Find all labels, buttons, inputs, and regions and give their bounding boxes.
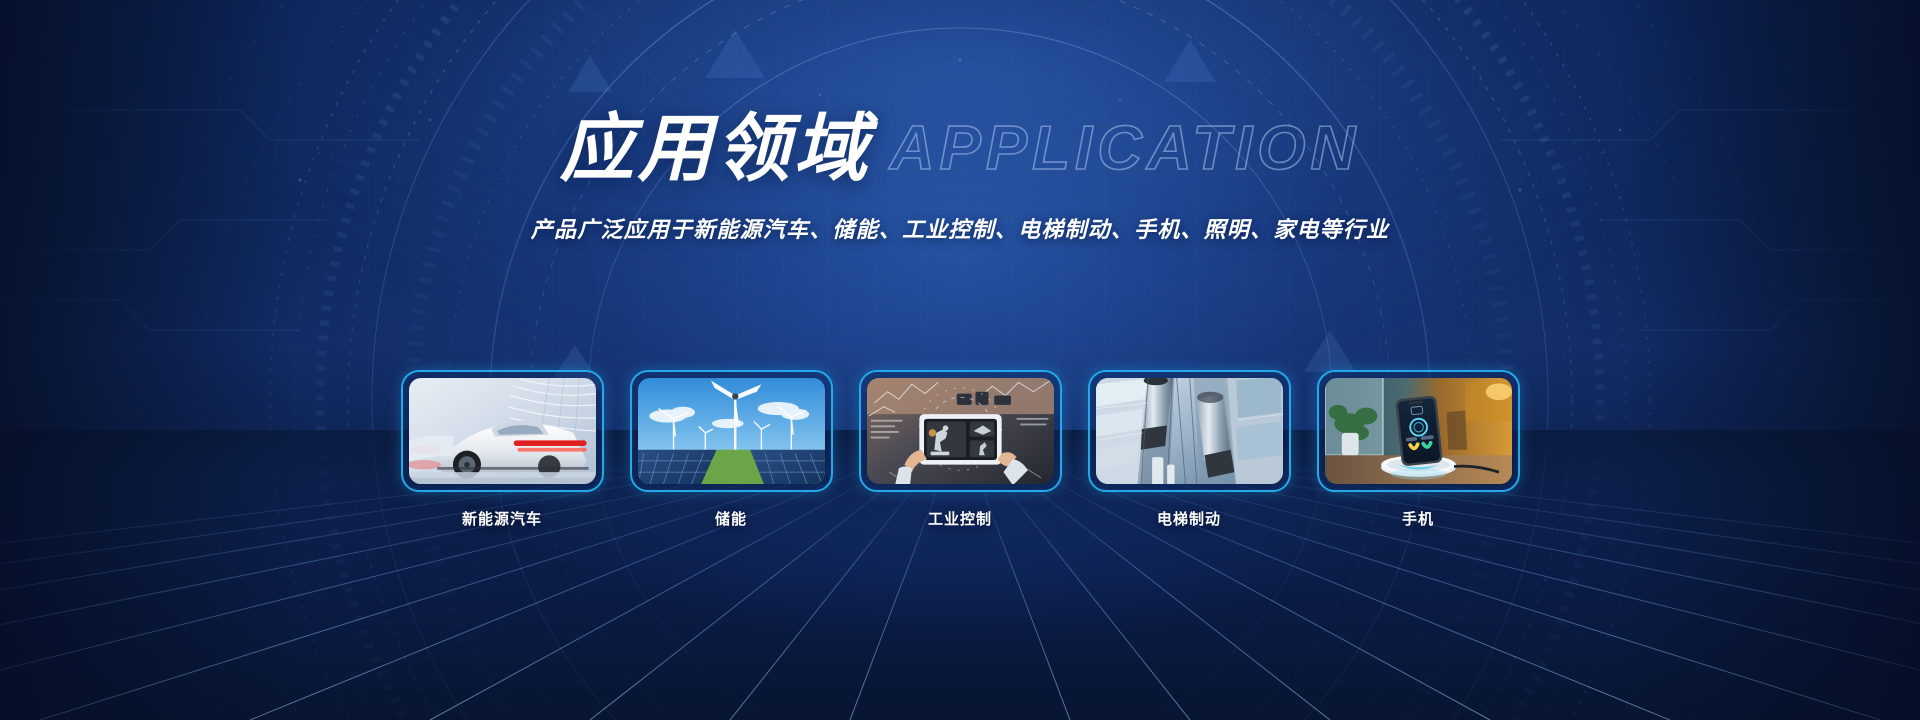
application-card[interactable]: 手机 xyxy=(1317,370,1520,529)
card-label: 工业控制 xyxy=(859,508,1062,529)
card-label: 新能源汽车 xyxy=(401,508,604,529)
page-title-english: APPLICATION xyxy=(890,118,1361,180)
tablet-robotic-arm-photo xyxy=(867,378,1054,484)
phone-wireless-charger-photo xyxy=(1325,378,1512,484)
card-frame[interactable] xyxy=(401,370,604,492)
card-frame[interactable] xyxy=(1317,370,1520,492)
card-label: 储能 xyxy=(630,508,833,529)
card-frame[interactable] xyxy=(1088,370,1291,492)
application-card[interactable]: 电梯制动 xyxy=(1088,370,1291,529)
page-title: 应用领域 xyxy=(560,112,872,186)
elevator-shaft-photo xyxy=(1096,378,1283,484)
wind-turbines-solar-panels-photo xyxy=(638,378,825,484)
banner-heading: 应用领域 APPLICATION 产品广泛应用于新能源汽车、储能、工业控制、电梯… xyxy=(0,112,1920,244)
sports-car-photo xyxy=(409,378,596,484)
application-card[interactable]: 储能 xyxy=(630,370,833,529)
application-card[interactable]: 工业控制 xyxy=(859,370,1062,529)
card-label: 电梯制动 xyxy=(1088,508,1291,529)
title-row: 应用领域 APPLICATION xyxy=(560,112,1361,186)
card-frame[interactable] xyxy=(859,370,1062,492)
card-label: 手机 xyxy=(1317,508,1520,529)
application-card[interactable]: 新能源汽车 xyxy=(401,370,604,529)
card-frame[interactable] xyxy=(630,370,833,492)
application-banner: 应用领域 APPLICATION 产品广泛应用于新能源汽车、储能、工业控制、电梯… xyxy=(0,0,1920,720)
banner-subtitle: 产品广泛应用于新能源汽车、储能、工业控制、电梯制动、手机、照明、家电等行业 xyxy=(0,212,1920,244)
application-card-list: 新能源汽车 xyxy=(0,370,1920,529)
